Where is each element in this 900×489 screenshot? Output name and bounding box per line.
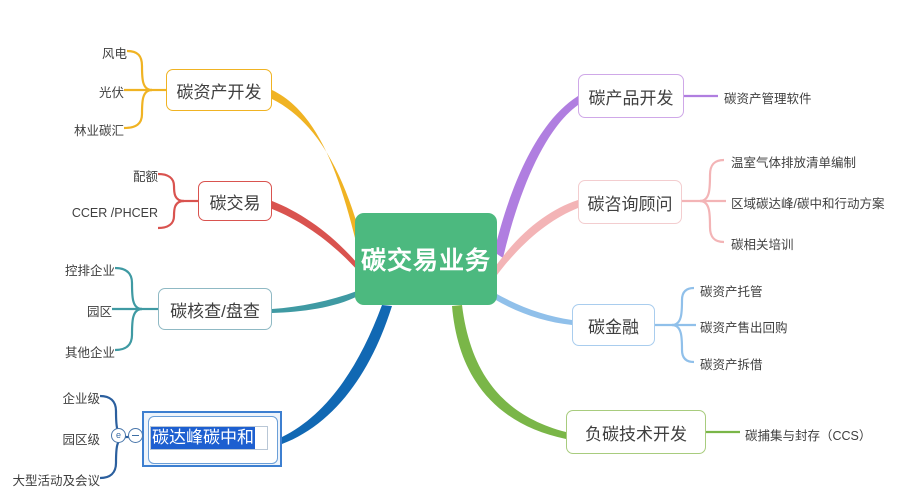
leaf-carbon-finance-0[interactable]: 碳资产托管: [700, 281, 763, 300]
leaf-carbon-asset-development-1[interactable]: 光伏: [99, 82, 124, 101]
main-branch-carbon-product-development: [494, 96, 578, 258]
leaf-label: 大型活动及会议: [12, 474, 100, 488]
leaf-carbon-peak-neutrality-2[interactable]: 大型活动及会议: [12, 470, 100, 489]
subwires-carbon-finance: [655, 288, 696, 362]
subwires-carbon-verification: [112, 268, 158, 350]
main-branch-carbon-peak-neutrality: [282, 305, 392, 444]
leaf-label: 碳资产拆借: [700, 358, 763, 372]
branch-node-carbon-asset-development[interactable]: 碳资产开发: [166, 69, 272, 111]
leaf-label: 园区: [87, 305, 112, 319]
main-branch-carbon-consulting: [495, 200, 578, 275]
branch-label-carbon-consulting: 碳咨询顾问: [588, 190, 673, 215]
subwires-carbon-trading: [158, 174, 198, 228]
main-branch-carbon-asset-development: [272, 90, 366, 256]
leaf-carbon-verification-0[interactable]: 控排企业: [65, 260, 115, 279]
leaf-label: CCER /PHCER: [72, 206, 158, 220]
branch-node-carbon-trading[interactable]: 碳交易: [198, 181, 272, 221]
subwires-carbon-asset-development: [124, 51, 166, 128]
root-node-label: 碳交易业务: [361, 241, 491, 277]
leaf-carbon-product-development-0[interactable]: 碳资产管理软件: [724, 88, 812, 107]
node-text-input[interactable]: 碳达峰碳中和: [150, 426, 268, 450]
branch-node-carbon-peak-neutrality[interactable]: 碳达峰碳中和: [142, 411, 282, 467]
leaf-label: 碳捕集与封存（CCS）: [745, 429, 871, 443]
leaf-carbon-peak-neutrality-0[interactable]: 企业级: [62, 388, 100, 407]
leaf-negative-carbon-tech-0[interactable]: 碳捕集与封存（CCS）: [745, 425, 871, 444]
root-node[interactable]: 碳交易业务: [355, 213, 497, 305]
leaf-label: 风电: [102, 47, 127, 61]
leaf-carbon-finance-1[interactable]: 碳资产售出回购: [700, 317, 788, 336]
branch-label-negative-carbon-tech: 负碳技术开发: [585, 420, 687, 445]
branch-label-carbon-product-development: 碳产品开发: [589, 84, 674, 109]
leaf-carbon-trading-0[interactable]: 配额: [133, 166, 158, 185]
leaf-carbon-consulting-0[interactable]: 温室气体排放清单编制: [731, 152, 856, 171]
leaf-carbon-consulting-2[interactable]: 碳相关培训: [731, 234, 794, 253]
branch-label-carbon-trading: 碳交易: [210, 189, 261, 214]
leaf-label: 碳相关培训: [731, 238, 794, 252]
leaf-label: 光伏: [99, 86, 124, 100]
leaf-carbon-peak-neutrality-1[interactable]: 园区级: [62, 429, 100, 448]
minus-bar: [132, 435, 139, 437]
branch-node-carbon-product-development[interactable]: 碳产品开发: [578, 74, 684, 118]
collapse-minus-icon[interactable]: [128, 428, 143, 443]
branch-node-carbon-finance[interactable]: 碳金融: [572, 304, 655, 346]
leaf-label: 企业级: [62, 392, 100, 406]
leaf-carbon-finance-2[interactable]: 碳资产拆借: [700, 354, 763, 373]
leaf-label: 控排企业: [65, 264, 115, 278]
subwires-carbon-consulting: [682, 160, 726, 242]
leaf-carbon-consulting-1[interactable]: 区域碳达峰/碳中和行动方案: [731, 193, 884, 212]
leaf-carbon-asset-development-0[interactable]: 风电: [102, 43, 127, 62]
leaf-label: 园区级: [62, 433, 100, 447]
leaf-carbon-asset-development-2[interactable]: 林业碳汇: [74, 120, 124, 139]
branch-node-carbon-verification[interactable]: 碳核查/盘查: [158, 288, 272, 330]
branch-node-negative-carbon-tech[interactable]: 负碳技术开发: [566, 410, 706, 454]
main-branch-carbon-finance: [494, 293, 572, 325]
leaf-label: 碳资产托管: [700, 285, 763, 299]
main-branch-carbon-trading: [272, 201, 358, 271]
leaf-carbon-trading-1[interactable]: CCER /PHCER: [72, 206, 158, 220]
branch-label-carbon-verification: 碳核查/盘查: [170, 297, 260, 322]
note-icon-glyph: e: [116, 431, 121, 440]
main-branch-carbon-verification: [272, 291, 358, 313]
branch-label-carbon-finance: 碳金融: [588, 313, 639, 338]
leaf-label: 林业碳汇: [74, 124, 124, 138]
leaf-label: 温室气体排放清单编制: [731, 156, 856, 170]
leaf-label: 区域碳达峰/碳中和行动方案: [731, 197, 884, 211]
leaf-label: 配额: [133, 170, 158, 184]
note-icon[interactable]: e: [111, 428, 126, 443]
main-branch-negative-carbon-tech: [452, 305, 566, 439]
branch-label-carbon-asset-development: 碳资产开发: [177, 78, 262, 103]
mindmap-canvas: 碳交易业务 碳资产开发 碳交易 碳核查/盘查 碳产品开发 碳咨询顾问 碳金融 负…: [0, 0, 900, 489]
leaf-label: 碳资产售出回购: [700, 321, 788, 335]
leaf-carbon-verification-1[interactable]: 园区: [87, 301, 112, 320]
leaf-label: 其他企业: [65, 346, 115, 360]
branch-node-carbon-consulting[interactable]: 碳咨询顾问: [578, 180, 682, 224]
leaf-label: 碳资产管理软件: [724, 92, 812, 106]
leaf-carbon-verification-2[interactable]: 其他企业: [65, 342, 115, 361]
node-text-selection: 碳达峰碳中和: [151, 427, 255, 449]
